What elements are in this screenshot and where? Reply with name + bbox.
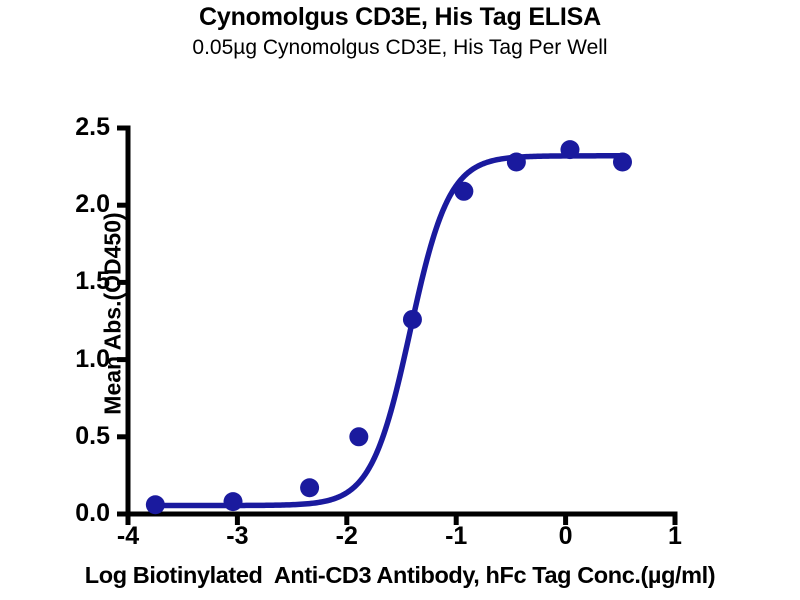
data-point-marker: [146, 495, 165, 514]
elisa-chart-figure: Cynomolgus CD3E, His Tag ELISA 0.05µg Cy…: [0, 0, 800, 600]
data-point-marker: [613, 152, 632, 171]
fit-curve: [152, 156, 622, 506]
data-point-marker: [403, 310, 422, 329]
data-point-marker: [454, 182, 473, 201]
data-point-marker: [349, 427, 368, 446]
data-point-marker: [224, 492, 243, 511]
plot-area: [0, 0, 800, 600]
data-point-marker: [300, 478, 319, 497]
data-point-marker: [507, 152, 526, 171]
axis-spines: [128, 128, 675, 514]
data-point-marker: [560, 140, 579, 159]
